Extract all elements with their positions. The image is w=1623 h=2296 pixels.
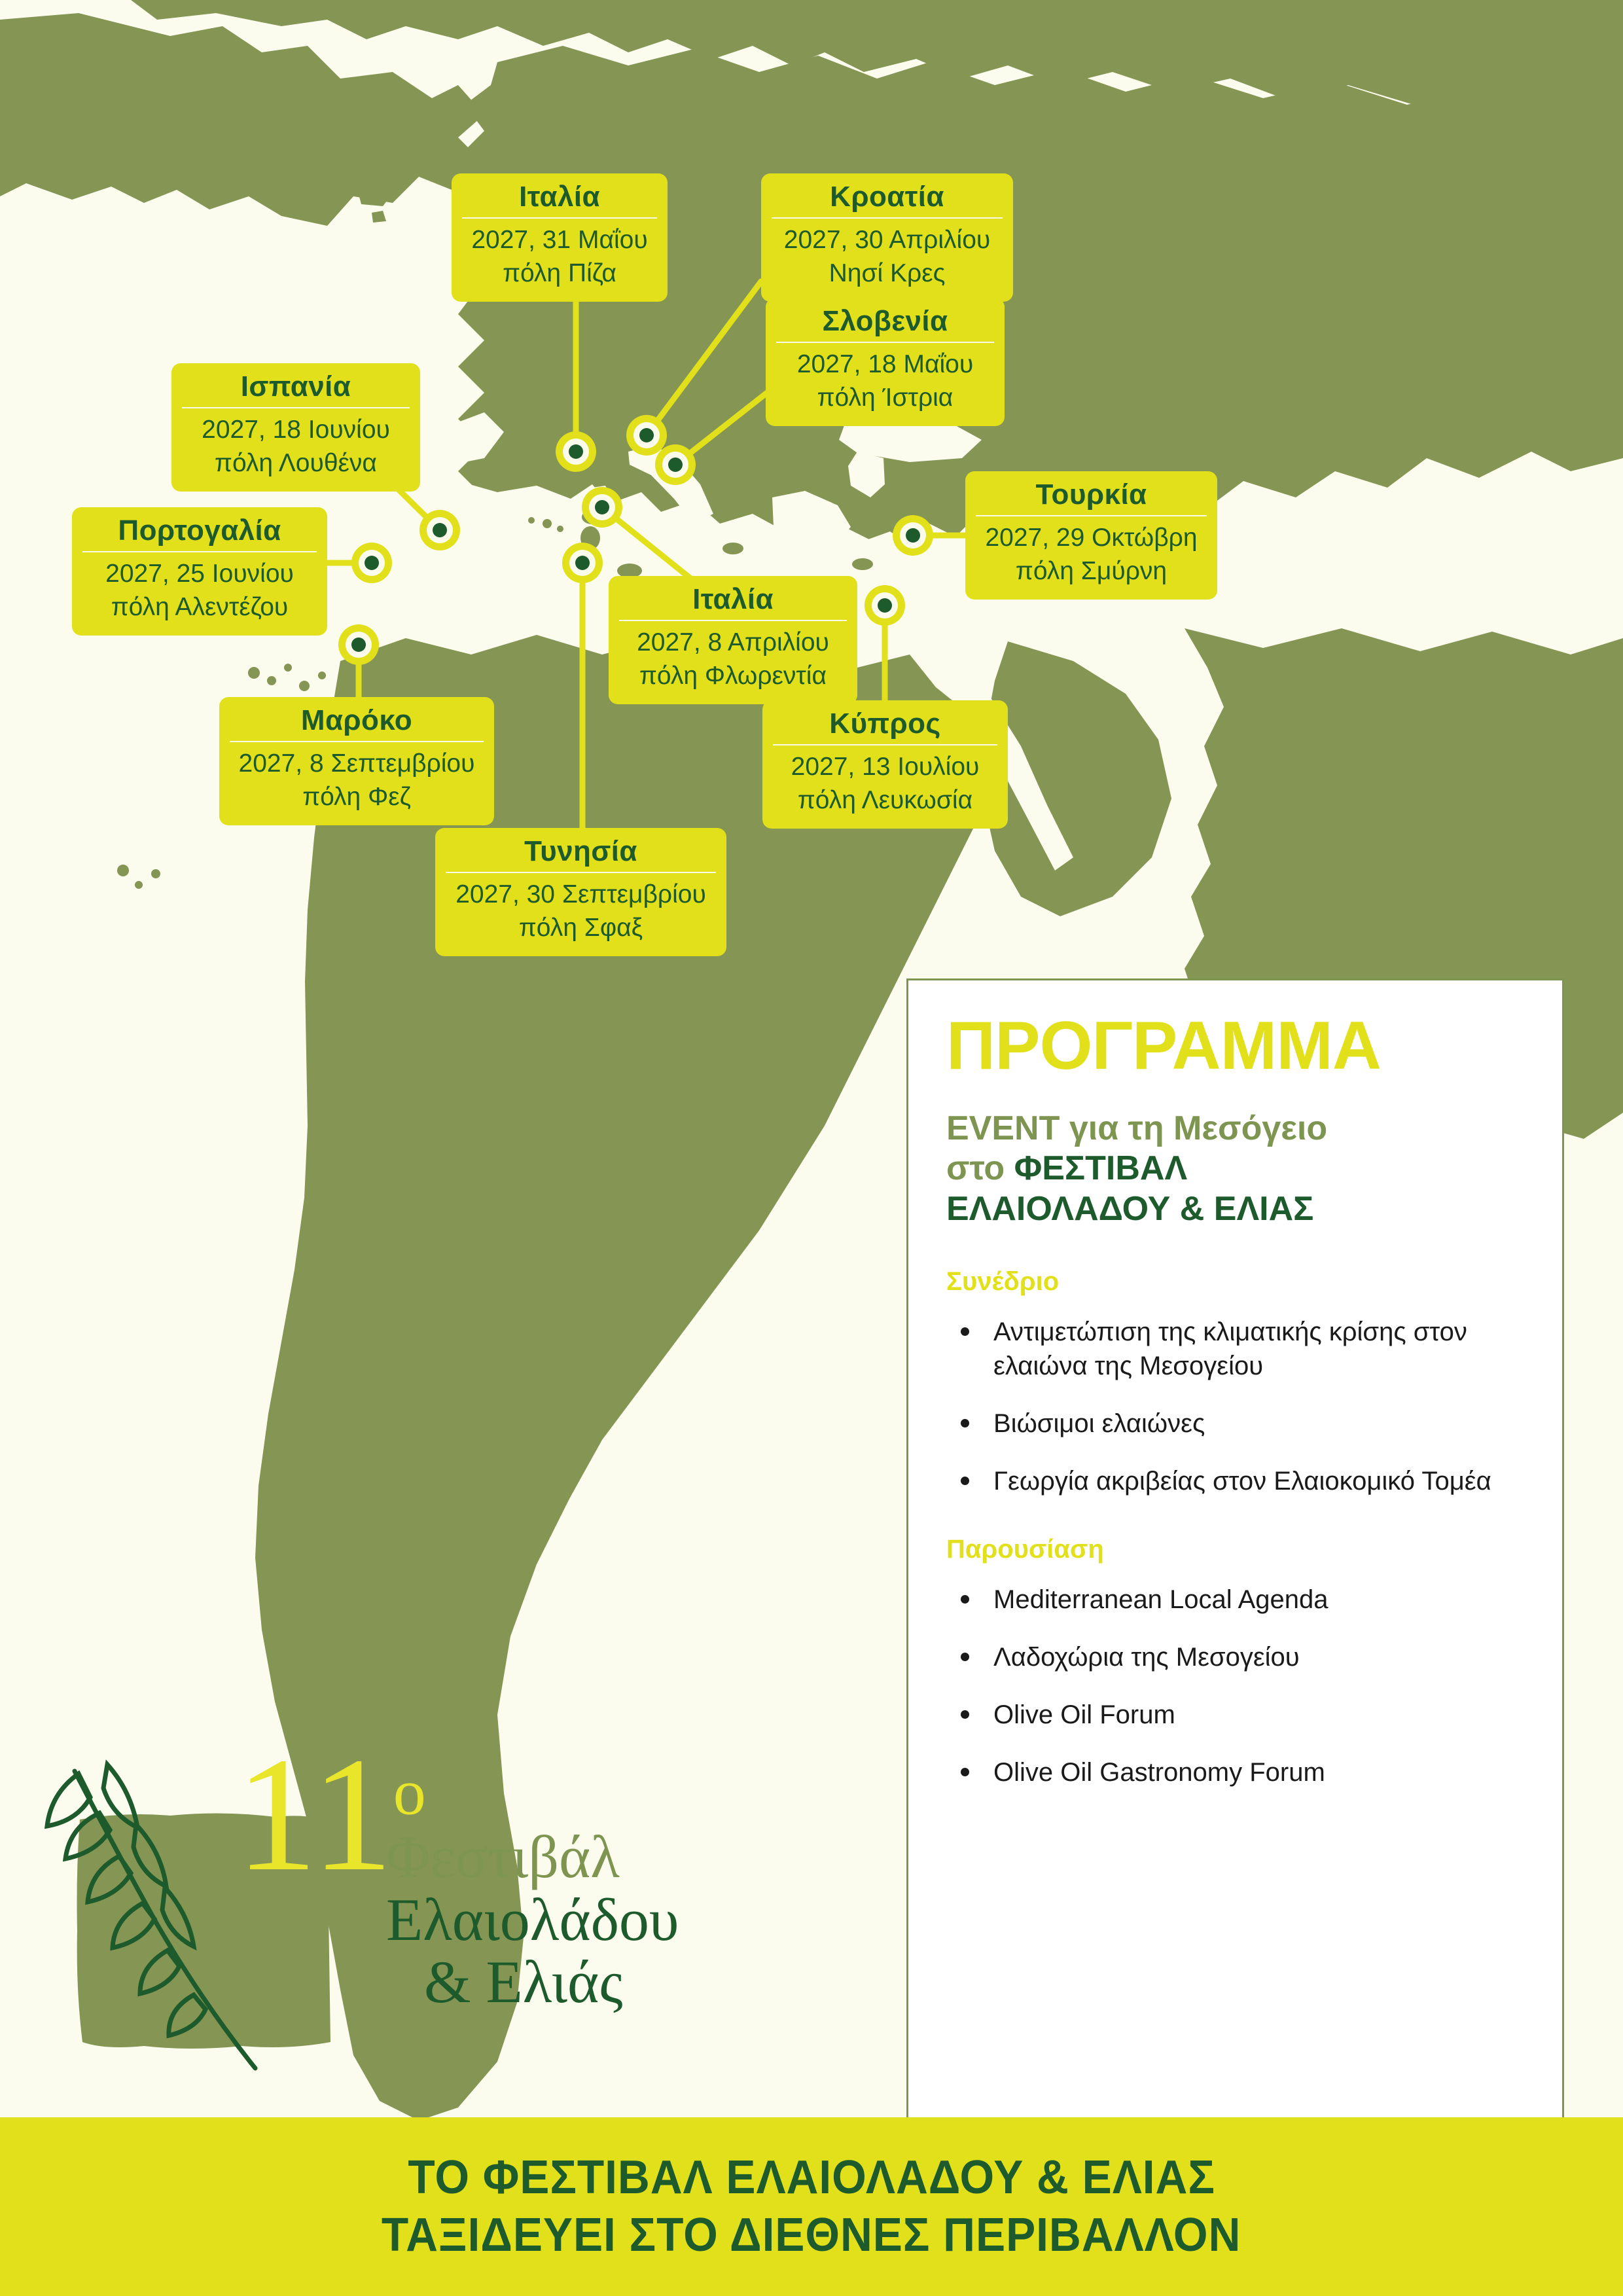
card-city: πόλη Πίζα xyxy=(469,257,651,291)
card-date: 2027, 18 Μαΐου xyxy=(783,348,988,382)
location-card-italy-pisa[interactable]: Ιταλία 2027, 31 Μαΐου πόλη Πίζα xyxy=(452,173,668,302)
card-divider xyxy=(182,407,410,408)
card-divider xyxy=(773,744,997,745)
card-date: 2027, 31 Μαΐου xyxy=(469,224,651,257)
list-item: Mediterranean Local Agenda xyxy=(946,1583,1524,1617)
logo-word-olive: & Ελιάς xyxy=(386,1951,753,2014)
card-country: Πορτογαλία xyxy=(89,514,310,551)
card-divider xyxy=(776,342,994,343)
list-item: Βιώσιμοι ελαιώνες xyxy=(946,1407,1524,1441)
logo-wordmark: Φεστιβάλ Ελαιολάδου & Ελιάς xyxy=(386,1826,753,2014)
location-card-spain-lucena[interactable]: Ισπανία 2027, 18 Ιουνίου πόλη Λουθένα xyxy=(171,363,420,492)
card-city: πόλη Σφαξ xyxy=(452,912,709,945)
conference-list: Αντιμετώπιση της κλιματικής κρίσης στον … xyxy=(946,1315,1524,1498)
program-subtitle: EVENT για τη Μεσόγειο στο ΦΕΣΤΙΒΑΛ ΕΛΑΙΟ… xyxy=(946,1109,1524,1229)
bottom-banner: ΤΟ ΦΕΣΤΙΒΑΛ ΕΛΑΙΟΛΑΔΟΥ & ΕΛΙΑΣ ΤΑΞΙΔΕΥΕΙ… xyxy=(0,2117,1623,2296)
card-city: πόλη Αλεντέζου xyxy=(89,591,310,624)
list-item: Γεωργία ακριβείας στον Ελαιοκομικό Τομέα xyxy=(946,1464,1524,1498)
card-divider xyxy=(772,217,1003,219)
program-panel: ΠΡΟΓΡΑΜΜΑ EVENT για τη Μεσόγειο στο ΦΕΣΤ… xyxy=(906,978,1564,2245)
list-item: Λαδοχώρια της Μεσογείου xyxy=(946,1640,1524,1674)
location-card-morocco-fez[interactable]: Μαρόκο 2027, 8 Σεπτεμβρίου πόλη Φεζ xyxy=(219,697,494,825)
card-country: Κύπρος xyxy=(779,707,991,744)
card-city: πόλη Σμύρνη xyxy=(982,555,1200,588)
card-divider xyxy=(446,872,716,873)
card-date: 2027, 18 Ιουνίου xyxy=(188,414,403,447)
card-city: πόλη Ίστρια xyxy=(783,382,988,415)
subtitle-festival: ΦΕΣΤΙΒΑΛ xyxy=(1014,1149,1188,1187)
location-card-slovenia-istria[interactable]: Σλοβενία 2027, 18 Μαΐου πόλη Ίστρια xyxy=(766,298,1005,426)
card-country: Ιταλία xyxy=(626,583,840,620)
card-city: πόλη Φεζ xyxy=(236,781,477,814)
logo-word-festival: Φεστιβάλ xyxy=(386,1826,753,1889)
card-date: 2027, 13 Ιουλίου xyxy=(779,751,991,784)
festival-logo: 11ο Φεστιβάλ Ελαιολάδου & Ελιάς xyxy=(39,1728,746,2075)
card-date: 2027, 30 Απριλίου xyxy=(778,224,996,257)
list-item: Olive Oil Gastronomy Forum xyxy=(946,1755,1524,1789)
card-city: πόλη Λουθένα xyxy=(188,447,403,480)
location-card-italy-florence[interactable]: Ιταλία 2027, 8 Απριλίου πόλη Φλωρεντία xyxy=(609,576,857,704)
location-card-cyprus-nicosia[interactable]: Κύπρος 2027, 13 Ιουλίου πόλη Λευκωσία xyxy=(762,700,1008,829)
subtitle-sto: στο xyxy=(946,1149,1005,1187)
card-divider xyxy=(82,551,317,552)
card-divider xyxy=(230,741,484,742)
card-divider xyxy=(976,515,1207,516)
banner-line-2: ΤΑΞΙΔΕΥΕΙ ΣΤΟ ΔΙΕΘΝΕΣ ΠΕΡΙΒΑΛΛΟΝ xyxy=(382,2207,1241,2265)
card-country: Ισπανία xyxy=(188,370,403,407)
card-country: Ιταλία xyxy=(469,180,651,217)
card-date: 2027, 25 Ιουνίου xyxy=(89,558,310,591)
section-heading-presentation: Παρουσίαση xyxy=(946,1535,1524,1564)
poster-root: Ιταλία 2027, 31 Μαΐου πόλη Πίζα Κροατία … xyxy=(0,0,1623,2296)
section-heading-conference: Συνέδριο xyxy=(946,1267,1524,1297)
card-date: 2027, 8 Σεπτεμβρίου xyxy=(236,747,477,781)
card-divider xyxy=(462,217,657,219)
card-country: Σλοβενία xyxy=(783,304,988,342)
subtitle-oliveoil-olive: ΕΛΑΙΟΛΑΔΟΥ & ΕΛΙΑΣ xyxy=(946,1190,1313,1228)
location-card-tunisia-sfax[interactable]: Τυνησία 2027, 30 Σεπτεμβρίου πόλη Σφαξ xyxy=(435,828,726,956)
location-card-portugal-alentejo[interactable]: Πορτογαλία 2027, 25 Ιουνίου πόλη Αλεντέζ… xyxy=(72,507,327,636)
logo-word-oliveoil: Ελαιολάδου xyxy=(386,1889,753,1952)
banner-line-1: ΤΟ ΦΕΣΤΙΒΑΛ ΕΛΑΙΟΛΑΔΟΥ & ΕΛΙΑΣ xyxy=(408,2149,1215,2207)
card-date: 2027, 8 Απριλίου xyxy=(626,626,840,660)
subtitle-event-word: EVENT xyxy=(946,1109,1060,1147)
card-country: Τουρκία xyxy=(982,478,1200,515)
subtitle-for-med: για τη Μεσόγειο xyxy=(1069,1109,1327,1147)
logo-number-text: 11 xyxy=(236,1724,393,1905)
card-divider xyxy=(619,620,847,621)
card-country: Μαρόκο xyxy=(236,704,477,741)
list-item: Αντιμετώπιση της κλιματικής κρίσης στον … xyxy=(946,1315,1524,1383)
card-city: πόλη Λευκωσία xyxy=(779,784,991,817)
card-city: Νησί Κρες xyxy=(778,257,996,291)
location-card-croatia-cres[interactable]: Κροατία 2027, 30 Απριλίου Νησί Κρες xyxy=(761,173,1013,302)
program-title: ΠΡΟΓΡΑΜΜΑ xyxy=(946,1012,1524,1080)
location-card-turkey-izmir[interactable]: Τουρκία 2027, 29 Οκτώβρη πόλη Σμύρνη xyxy=(965,471,1217,600)
card-country: Τυνησία xyxy=(452,834,709,872)
card-city: πόλη Φλωρεντία xyxy=(626,660,840,693)
card-date: 2027, 30 Σεπτεμβρίου xyxy=(452,878,709,912)
logo-ordinal: ο xyxy=(393,1756,426,1829)
card-date: 2027, 29 Οκτώβρη xyxy=(982,522,1200,555)
presentation-list: Mediterranean Local Agenda Λαδοχώρια της… xyxy=(946,1583,1524,1789)
list-item: Olive Oil Forum xyxy=(946,1698,1524,1732)
card-country: Κροατία xyxy=(778,180,996,217)
